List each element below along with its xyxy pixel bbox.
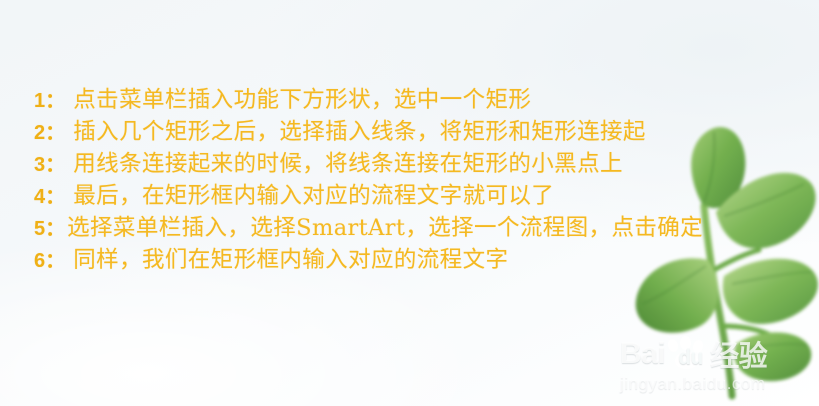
watermark-du-text: du bbox=[678, 346, 703, 370]
watermark-brand: Bai du 经验 bbox=[620, 336, 816, 372]
instruction-line-5: 5：选择菜单栏插入，选择SmartArt，选择一个流程图，点击确定 bbox=[0, 212, 819, 244]
instruction-line-1: 1： 点击菜单栏插入功能下方形状，选中一个矩形 bbox=[0, 84, 819, 116]
line-text-5-smartart: SmartArt bbox=[296, 215, 405, 241]
baidu-paw-icon: du bbox=[666, 337, 706, 371]
line-text-6: 同样，我们在矩形框内输入对应的流程文字 bbox=[73, 247, 508, 273]
line-text-5-before: 选择菜单栏插入，选择 bbox=[67, 215, 296, 241]
watermark-url: jingyan.baidu.com bbox=[620, 374, 816, 394]
line-number-1: 1： bbox=[34, 90, 65, 112]
instruction-line-4: 4： 最后，在矩形框内输入对应的流程文字就可以了 bbox=[0, 180, 819, 212]
line-text-5-after: ，选择一个流程图，点击确定 bbox=[405, 215, 703, 241]
watermark-jingyan-text: 经验 bbox=[710, 333, 767, 375]
line-text-1: 点击菜单栏插入功能下方形状，选中一个矩形 bbox=[73, 87, 531, 113]
instruction-line-6: 6： 同样，我们在矩形框内输入对应的流程文字 bbox=[0, 244, 819, 276]
line-number-6: 6： bbox=[34, 250, 65, 272]
line-number-3: 3： bbox=[34, 154, 65, 176]
baidu-jingyan-watermark: Bai du 经验 jingyan.baidu.com bbox=[620, 336, 816, 398]
slide-canvas: 1： 点击菜单栏插入功能下方形状，选中一个矩形 2： 插入几个矩形之后，选择插入… bbox=[0, 0, 819, 406]
line-text-4: 最后，在矩形框内输入对应的流程文字就可以了 bbox=[73, 183, 554, 209]
line-number-5: 5： bbox=[34, 218, 65, 240]
line-text-2: 插入几个矩形之后，选择插入线条，将矩形和矩形连接起 bbox=[73, 119, 646, 145]
instruction-list: 1： 点击菜单栏插入功能下方形状，选中一个矩形 2： 插入几个矩形之后，选择插入… bbox=[0, 84, 819, 276]
line-number-2: 2： bbox=[34, 122, 65, 144]
line-number-4: 4： bbox=[34, 186, 65, 208]
instruction-line-2: 2： 插入几个矩形之后，选择插入线条，将矩形和矩形连接起 bbox=[0, 116, 819, 148]
instruction-line-3: 3： 用线条连接起来的时候，将线条连接在矩形的小黑点上 bbox=[0, 148, 819, 180]
line-text-3: 用线条连接起来的时候，将线条连接在矩形的小黑点上 bbox=[73, 151, 623, 177]
watermark-bai-text: Bai bbox=[620, 337, 665, 371]
